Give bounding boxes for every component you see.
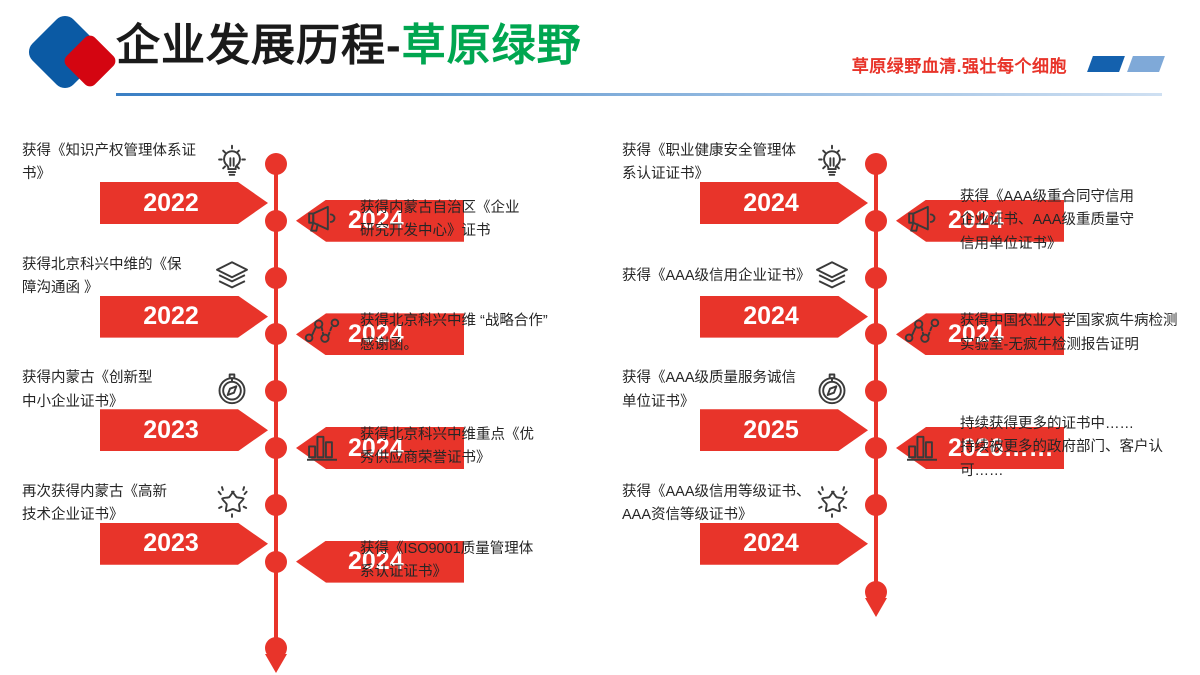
timeline-year-badge[interactable]: 2023 — [100, 523, 268, 565]
timeline-event-text: 持续获得更多的证书中…… 持续被更多的政府部门、客户认 可…… — [960, 413, 1195, 483]
timeline-year-badge[interactable]: 2024 — [700, 296, 868, 338]
timeline-event-text: 获得内蒙古《创新型 中小企业证书》 — [22, 367, 222, 414]
network-icon — [302, 312, 342, 352]
timeline-year-label: 2023 — [143, 529, 199, 558]
megaphone-icon — [902, 199, 942, 239]
timeline-node-dot[interactable] — [865, 437, 887, 459]
timeline-year-badge[interactable]: 2024 — [700, 182, 868, 224]
timeline-event-text: 再次获得内蒙古《高新 技术企业证书》 — [22, 481, 222, 528]
timeline-year-badge[interactable]: 2022 — [100, 182, 268, 224]
timeline-node-dot[interactable] — [865, 267, 887, 289]
timeline-event-text: 获得《ISO9001质量管理体 系认证证书》 — [360, 538, 595, 585]
timeline-event-text: 获得北京科兴中维的《保 障沟通函 》 — [22, 254, 222, 301]
timeline-node-dot[interactable] — [265, 437, 287, 459]
timeline-node-dot[interactable] — [265, 380, 287, 402]
timeline-node-dot[interactable] — [865, 210, 887, 232]
barchart-icon — [302, 426, 342, 466]
timeline-event-text: 获得《职业健康安全管理体 系认证证书》 — [622, 140, 822, 187]
timeline-axis — [274, 164, 278, 656]
timeline-node-dot[interactable] — [265, 267, 287, 289]
timeline-node-dot[interactable] — [265, 153, 287, 175]
timeline-event-text: 获得中国农业大学国家疯牛病检测 实验室-无疯牛检测报告证明 — [960, 310, 1195, 357]
timeline-event-text: 获得内蒙古自治区《企业 研究开发中心》证书 — [360, 197, 595, 244]
timeline-event-text: 获得《AAA级质量服务诚信 单位证书》 — [622, 367, 822, 414]
timeline-event-text: 获得北京科兴中维 “战略合作” 感谢函。 — [360, 310, 595, 357]
timeline-event-text: 获得《知识产权管理体系证 书》 — [22, 140, 222, 187]
timeline-node-dot[interactable] — [865, 581, 887, 603]
network-icon — [902, 312, 942, 352]
timeline-left: 2022 获得《知识产权管理体系证 书》2024 获得内蒙古自治区《企业 研究开… — [0, 0, 600, 675]
timeline-year-badge[interactable]: 2022 — [100, 296, 268, 338]
timeline-node-dot[interactable] — [865, 323, 887, 345]
timeline-node-dot[interactable] — [265, 210, 287, 232]
timeline-node-dot[interactable] — [865, 380, 887, 402]
timeline-event-text: 获得北京科兴中维重点《优 秀供应商荣誉证书》 — [360, 424, 595, 471]
timeline-node-dot[interactable] — [865, 494, 887, 516]
timeline-year-label: 2022 — [143, 302, 199, 331]
timeline-year-label: 2024 — [743, 189, 799, 218]
timeline-year-label: 2024 — [743, 302, 799, 331]
timeline-node-dot[interactable] — [265, 323, 287, 345]
barchart-icon — [902, 426, 942, 466]
timeline-year-badge[interactable]: 2023 — [100, 409, 268, 451]
timeline-year-label: 2022 — [143, 189, 199, 218]
timeline-node-dot[interactable] — [265, 494, 287, 516]
megaphone-icon — [302, 199, 342, 239]
timeline-year-label: 2023 — [143, 416, 199, 445]
timeline-right: 2024 获得《职业健康安全管理体 系认证证书》2024 获得《AAA级重合同守… — [600, 0, 1200, 675]
timeline-node-dot[interactable] — [865, 153, 887, 175]
timeline-event-text: 获得《AAA级信用等级证书、 AAA资信等级证书》 — [622, 481, 822, 528]
timeline-year-badge[interactable]: 2024 — [700, 523, 868, 565]
timeline-event-text: 获得《AAA级重合同守信用 企业证书、AAA级重质量守 信用单位证书》 — [960, 186, 1195, 256]
timeline-node-dot[interactable] — [265, 551, 287, 573]
timeline-year-label: 2024 — [743, 529, 799, 558]
timeline-event-text: 获得《AAA级信用企业证书》 — [622, 265, 822, 288]
timeline-year-badge[interactable]: 2025 — [700, 409, 868, 451]
timeline-year-label: 2025 — [743, 416, 799, 445]
